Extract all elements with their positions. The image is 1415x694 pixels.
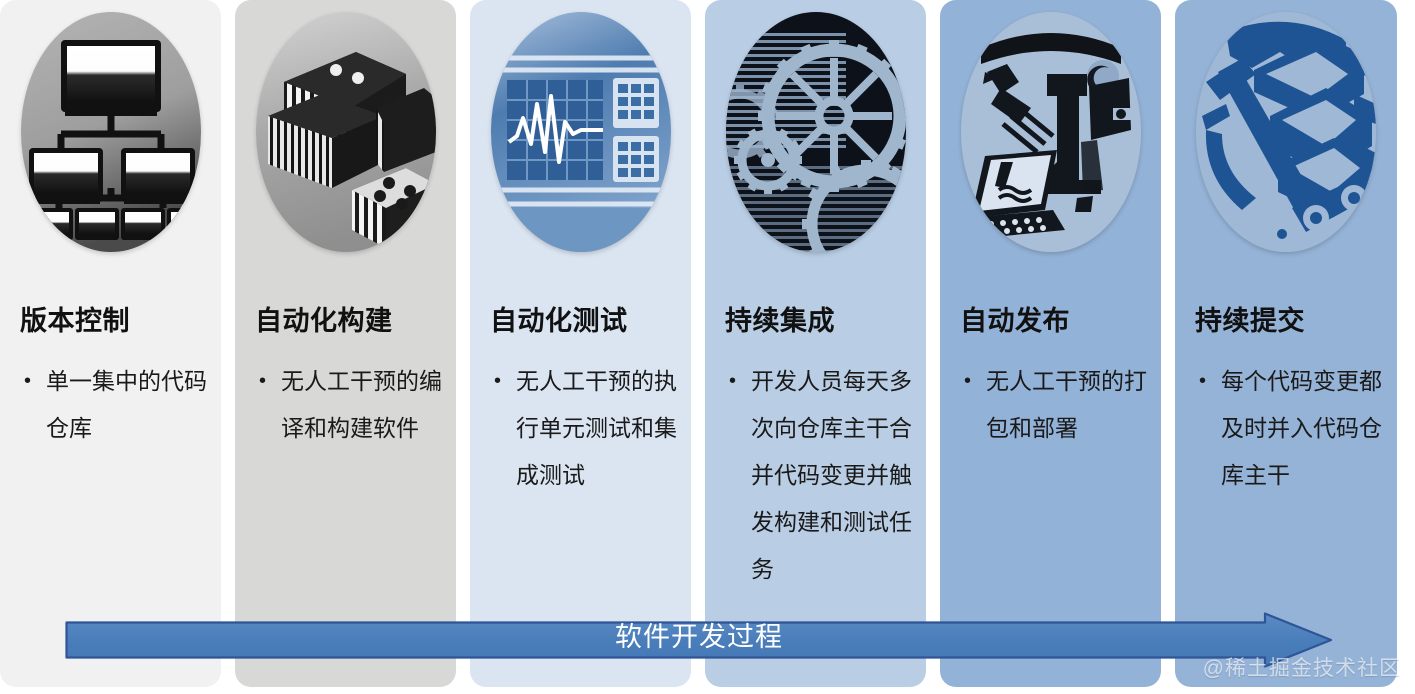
bullet-marker: • (1195, 358, 1221, 499)
column-bullet: • 每个代码变更都及时并入代码仓库主干 (1195, 358, 1387, 499)
process-arrow (65, 612, 1333, 668)
pipeline-column-continuous-integration[interactable]: 持续集成 • 开发人员每天多次向仓库主干合并代码变更并触发构建和测试任务 (705, 0, 926, 687)
gears-icon (726, 12, 906, 252)
column-bullet: • 无人工干预的打包和部署 (960, 358, 1152, 452)
waveform-monitor-icon (491, 12, 671, 252)
stacked-bricks-icon (256, 12, 436, 252)
rocket-laptop-icon (961, 12, 1141, 252)
column-title: 自动发布 (960, 299, 1070, 338)
column-body: 每个代码变更都及时并入代码仓库主干 (1221, 358, 1387, 499)
bullet-marker: • (725, 358, 751, 593)
column-bullet: • 无人工干预的编译和构建软件 (255, 358, 447, 452)
pipeline-column-continuous-delivery[interactable]: 持续提交 • 每个代码变更都及时并入代码仓库主干 (1175, 0, 1397, 687)
pipeline-column-automated-test[interactable]: 自动化测试 • 无人工干预的执行单元测试和集成测试 (470, 0, 691, 687)
bullet-marker: • (490, 358, 516, 499)
pipeline-column-automated-release[interactable]: 自动发布 • 无人工干预的打包和部署 (940, 0, 1161, 687)
column-body: 无人工干预的执行单元测试和集成测试 (516, 358, 682, 499)
column-title: 持续提交 (1195, 299, 1305, 338)
column-title: 自动化构建 (255, 299, 393, 338)
pipeline-column-version-control[interactable]: 版本控制 • 单一集中的代码仓库 (0, 0, 221, 687)
column-body: 无人工干预的编译和构建软件 (281, 358, 447, 452)
hand-truck-boxes-icon (1196, 12, 1376, 252)
column-bullet: • 无人工干预的执行单元测试和集成测试 (490, 358, 682, 499)
slide-canvas: 版本控制 • 单一集中的代码仓库 (0, 0, 1415, 694)
pipeline-column-automated-build[interactable]: 自动化构建 • 无人工干预的编译和构建软件 (235, 0, 456, 687)
column-title: 自动化测试 (490, 299, 628, 338)
bullet-marker: • (20, 358, 46, 452)
column-body: 开发人员每天多次向仓库主干合并代码变更并触发构建和测试任务 (751, 358, 917, 593)
column-bullet: • 单一集中的代码仓库 (20, 358, 212, 452)
column-title: 版本控制 (20, 299, 130, 338)
bullet-marker: • (255, 358, 281, 452)
watermark: @稀土掘金技术社区 (1203, 652, 1401, 682)
column-title: 持续集成 (725, 299, 835, 338)
column-bullet: • 开发人员每天多次向仓库主干合并代码变更并触发构建和测试任务 (725, 358, 917, 593)
bullet-marker: • (960, 358, 986, 452)
column-body: 单一集中的代码仓库 (46, 358, 212, 452)
pipeline-columns: 版本控制 • 单一集中的代码仓库 (0, 0, 1415, 694)
network-monitors-icon (21, 12, 201, 252)
column-body: 无人工干预的打包和部署 (986, 358, 1152, 452)
